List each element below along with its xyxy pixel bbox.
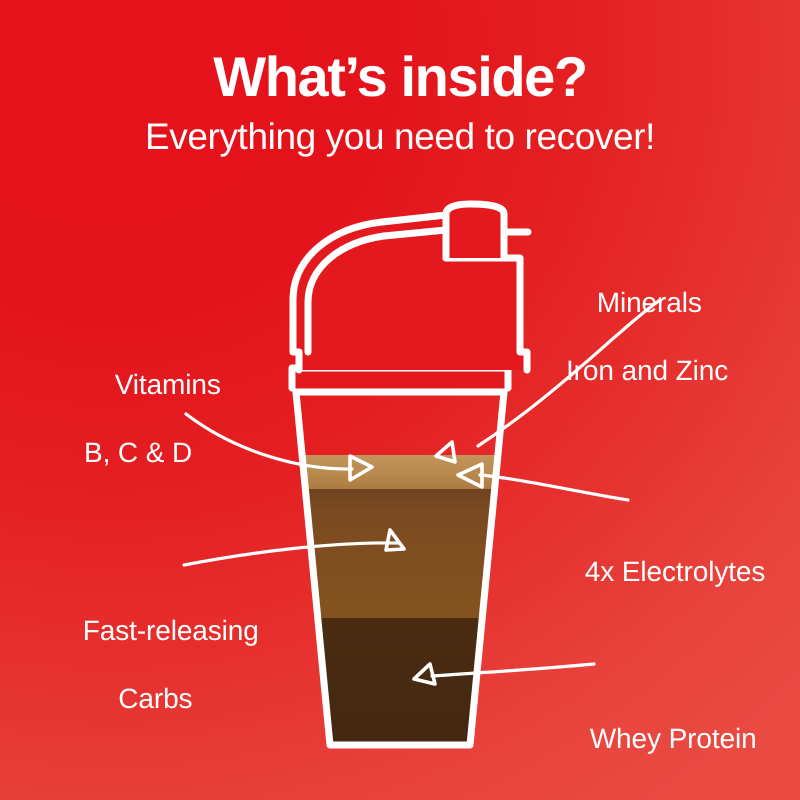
protein-layer [280, 618, 520, 758]
electrolytes-layer [280, 455, 520, 489]
lid-spout [446, 204, 504, 258]
lid-collar [292, 368, 508, 388]
leader-line-electrolytes [480, 475, 628, 500]
shaker-illustration [0, 0, 800, 800]
infographic-poster: What’s inside? Everything you need to re… [0, 0, 800, 800]
